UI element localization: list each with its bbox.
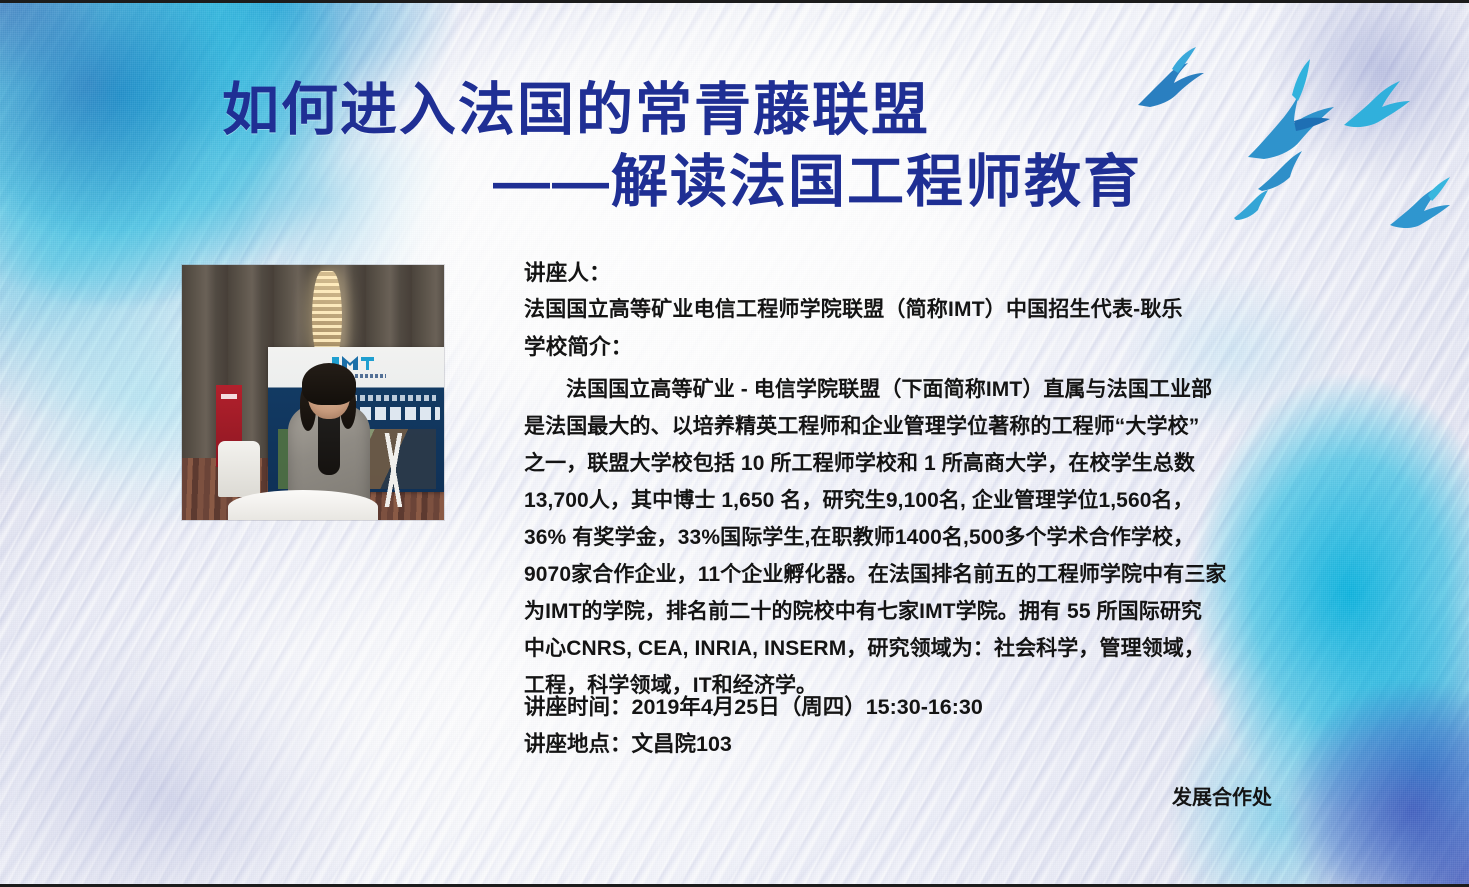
school-intro-label: 学校简介： — [524, 329, 1314, 366]
event-location: 讲座地点：文昌院103 — [524, 726, 983, 763]
intro-line: 是法国最大的、以培养精英工程师和企业管理学位著称的工程师“大学校” — [524, 409, 1314, 446]
poster-canvas: 如何进入法国的常青藤联盟 ——解读法国工程师教育 讲座人： — [0, 0, 1469, 887]
intro-line: 13,700人，其中博士 1,650 名，研究生9,100名, 企业管理学位1,… — [524, 483, 1314, 520]
photo-chair — [218, 441, 260, 497]
title-line-2: ——解读法国工程师教育 — [0, 147, 1290, 219]
intro-line: 中心CNRS, CEA, INRIA, INSERM，研究领域为：社会科学，管理… — [524, 631, 1314, 668]
photo-foreground-table — [228, 490, 378, 520]
event-details: 讲座时间：2019年4月25日（周四）15:30-16:30 讲座地点：文昌院1… — [524, 689, 983, 764]
poster-title: 如何进入法国的常青藤联盟 ——解读法国工程师教育 — [0, 75, 1290, 219]
intro-line: 36% 有奖学金，33%国际学生,在职教师1400名,500多个学术合作学校， — [524, 520, 1314, 557]
event-time: 讲座时间：2019年4月25日（周四）15:30-16:30 — [524, 689, 983, 726]
speaker-name: 法国国立高等矿业电信工程师学院联盟（简称IMT）中国招生代表-耿乐 — [524, 292, 1314, 329]
title-line-1: 如何进入法国的常青藤联盟 — [0, 75, 1290, 147]
intro-line: 9070家合作企业，11个企业孵化器。在法国排名前五的工程师学院中有三家 — [524, 557, 1314, 594]
speaker-photo — [182, 265, 444, 520]
school-intro-paragraph: 法国国立高等矿业 - 电信学院联盟（下面简称IMT）直属与法国工业部 是法国最大… — [524, 372, 1314, 705]
intro-line: 法国国立高等矿业 - 电信学院联盟（下面简称IMT）直属与法国工业部 — [524, 372, 1314, 409]
poster-body-content: 讲座人： 法国国立高等矿业电信工程师学院联盟（简称IMT）中国招生代表-耿乐 学… — [524, 255, 1314, 705]
photo-easel-stand — [372, 433, 416, 507]
photo-speaker-hair-top — [302, 363, 356, 405]
intro-line: 为IMT的学院，排名前二十的院校中有七家IMT学院。拥有 55 所国际研究 — [524, 594, 1314, 631]
intro-line: 之一，联盟大学校包括 10 所工程师学校和 1 所高商大学，在校学生总数 — [524, 446, 1314, 483]
organizer-name: 发展合作处 — [1172, 781, 1272, 810]
speaker-label: 讲座人： — [524, 255, 1314, 292]
